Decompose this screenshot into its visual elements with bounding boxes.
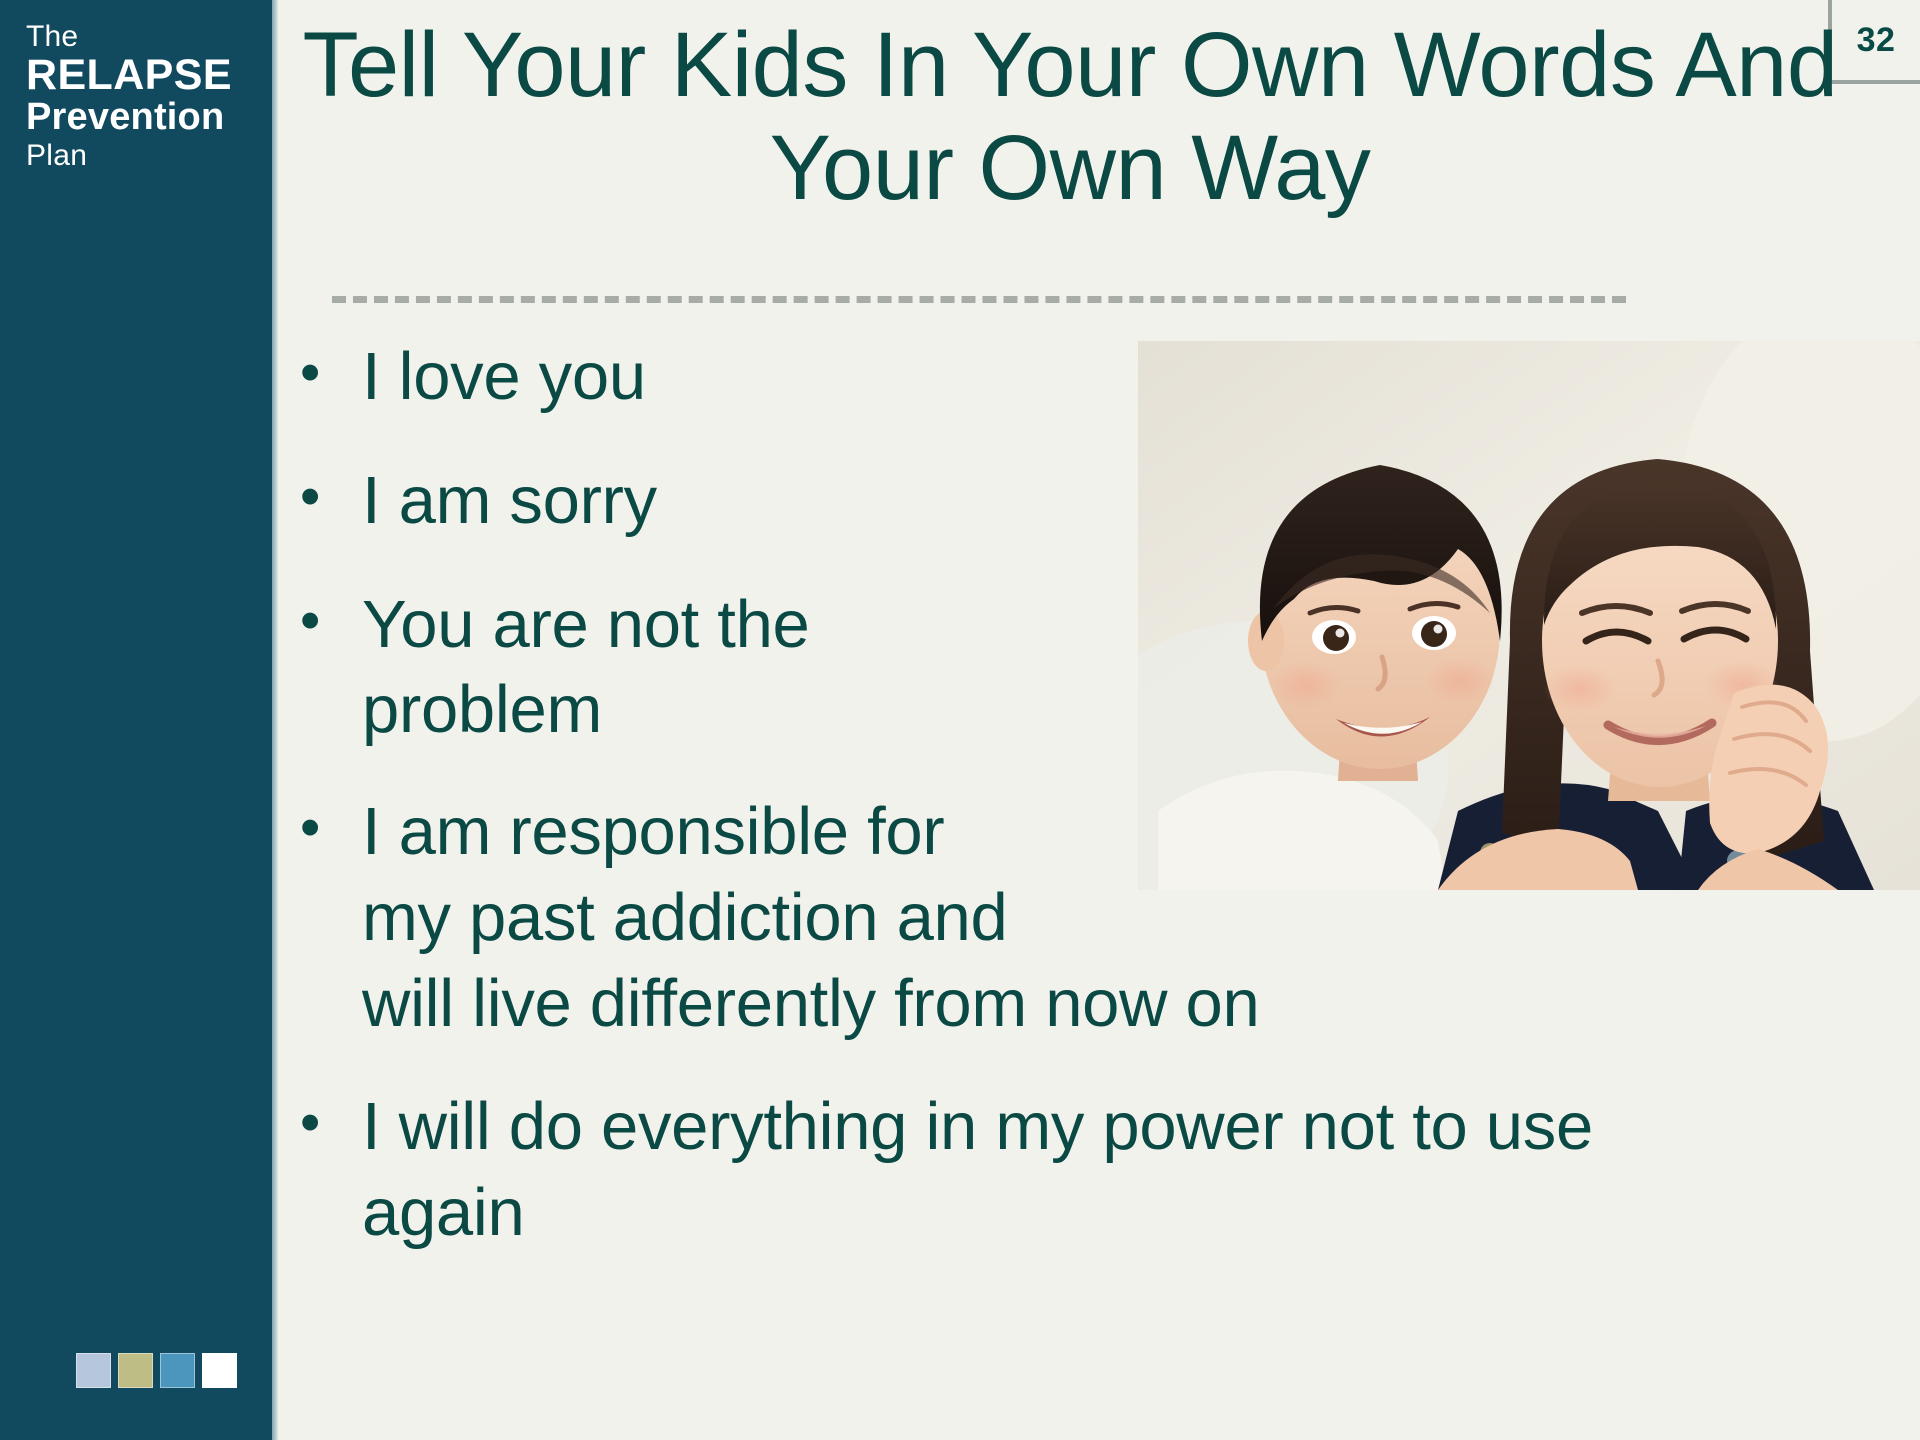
list-item: • You are not the problem [300,582,1860,754]
page-number-badge: 32 [1828,0,1920,84]
slide: The RELAPSE Prevention Plan 32 Tell Your… [0,0,1920,1440]
title-divider [332,296,1626,303]
bullet-list: • I love you • I am sorry • You are not … [300,334,1860,1256]
list-item: • I love you [300,334,1860,420]
logo-line-prevention: Prevention [26,98,256,138]
list-item: • I am responsible for my past addiction… [300,789,1860,1046]
bullet-marker-icon: • [300,458,362,535]
bullet-marker-icon: • [300,582,362,659]
swatch-blue [160,1353,195,1388]
sidebar [0,0,272,1440]
list-item: • I will do everything in my power not t… [300,1084,1860,1256]
list-item-text: I love you [362,334,1860,420]
bullet-marker-icon: • [300,334,362,411]
list-item-text: You are not the problem [362,582,1860,754]
list-item: • I am sorry [300,458,1860,544]
bullet-marker-icon: • [300,1084,362,1161]
color-swatch-strip [76,1353,237,1388]
slide-title: Tell Your Kids In Your Own Words And You… [300,14,1840,220]
page-number: 32 [1857,21,1896,60]
logo-line-the: The [26,22,256,52]
list-item-text: I am sorry [362,458,1860,544]
swatch-olive [118,1353,153,1388]
brand-logo: The RELAPSE Prevention Plan [26,22,256,171]
list-item-text: I will do everything in my power not to … [362,1084,1860,1256]
logo-line-plan: Plan [26,141,256,171]
list-item-text: I am responsible for my past addiction a… [362,789,1860,1046]
sidebar-edge-stripe [272,0,278,1440]
swatch-light-blue [76,1353,111,1388]
swatch-white [202,1353,237,1388]
bullet-marker-icon: • [300,789,362,866]
logo-line-relapse: RELAPSE [26,54,256,98]
